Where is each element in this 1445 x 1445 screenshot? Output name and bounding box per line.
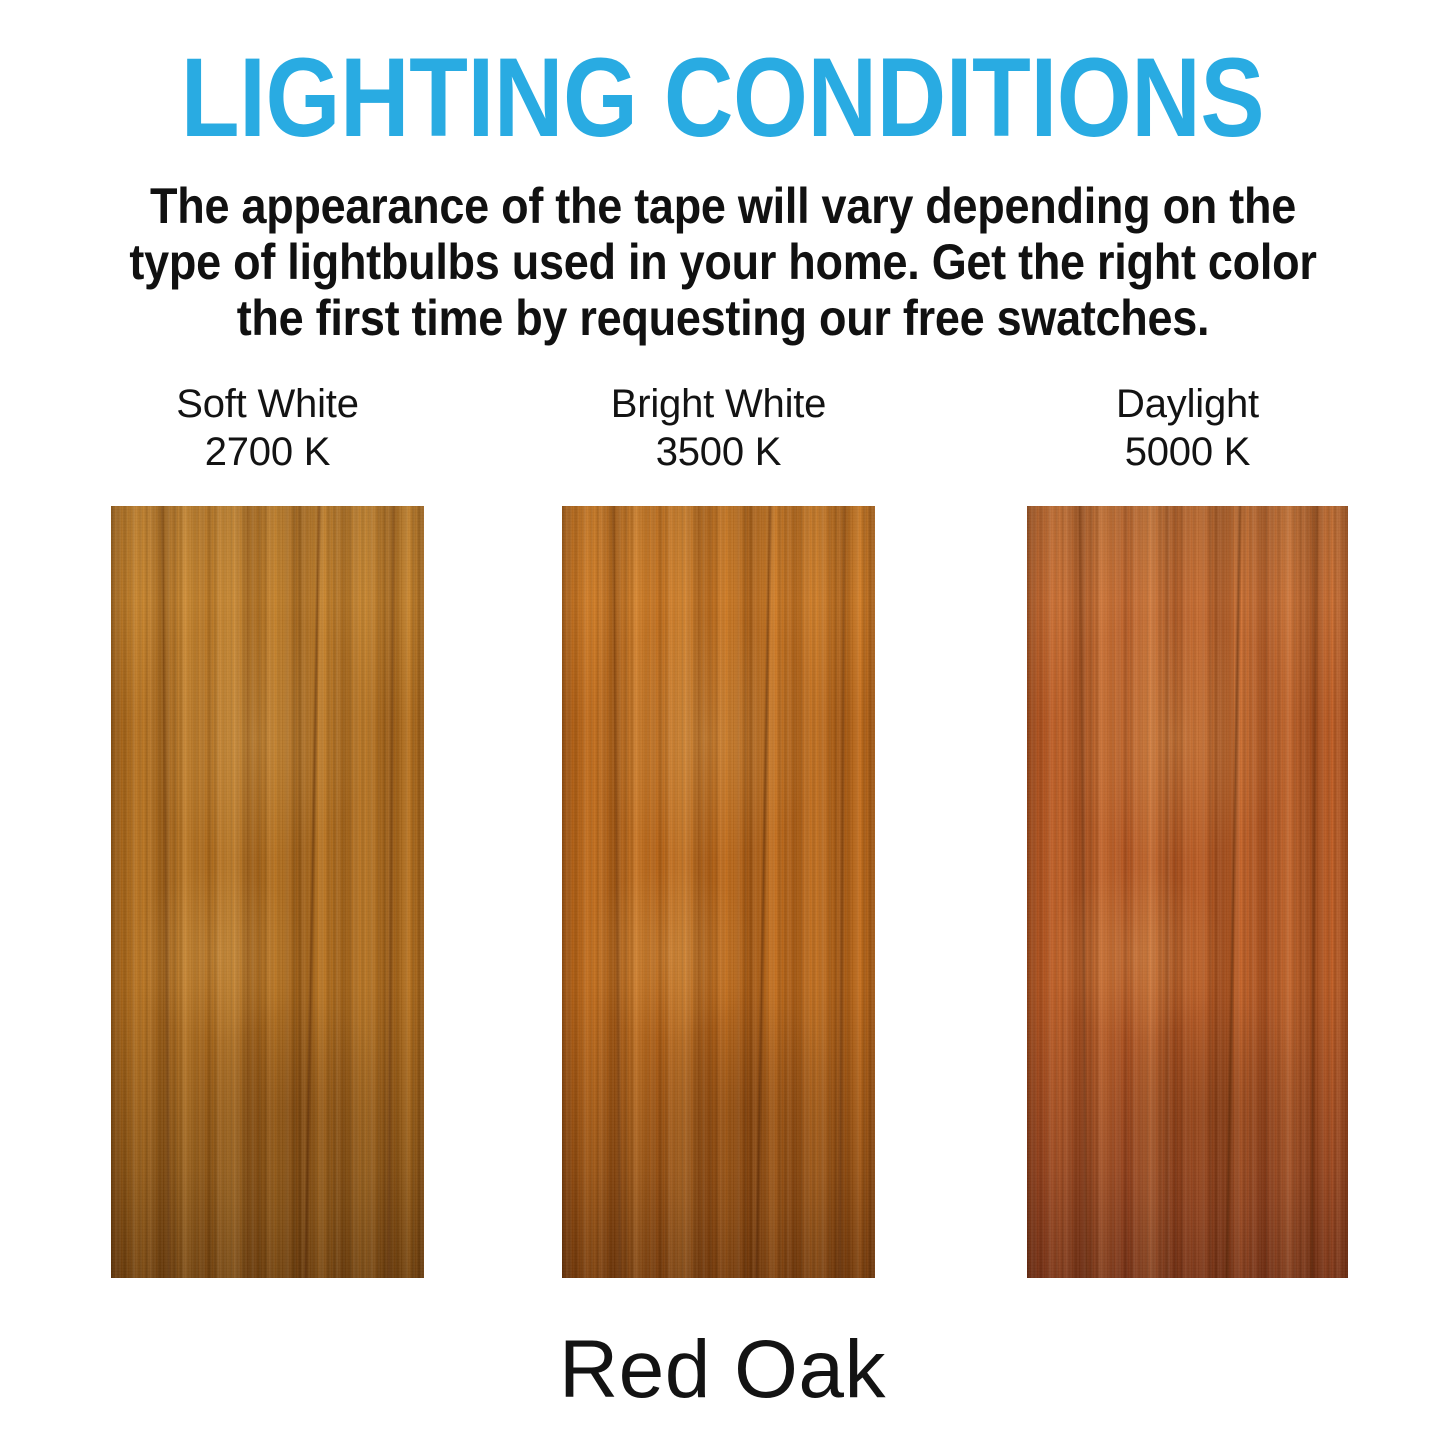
wood-swatch-daylight xyxy=(1027,506,1348,1278)
wood-species-label: Red Oak xyxy=(0,1322,1445,1418)
light-type-name: Daylight xyxy=(1027,380,1348,428)
column-label-bright-white: Bright White 3500 K xyxy=(562,380,875,476)
wood-swatch-bright-white xyxy=(562,506,875,1278)
light-type-name: Bright White xyxy=(562,380,875,428)
wood-grain-noise-layer xyxy=(562,506,875,1278)
subtitle-line-2: type of lightbulbs used in your home. Ge… xyxy=(84,234,1362,290)
color-temperature: 3500 K xyxy=(562,428,875,476)
column-labels: Soft White 2700 K Bright White 3500 K Da… xyxy=(0,380,1445,500)
wood-grain-noise-layer xyxy=(1027,506,1348,1278)
subtitle-block: The appearance of the tape will vary dep… xyxy=(84,178,1362,346)
column-label-soft-white: Soft White 2700 K xyxy=(111,380,424,476)
wood-grain-noise-layer xyxy=(111,506,424,1278)
color-temperature: 5000 K xyxy=(1027,428,1348,476)
subtitle-line-3: the first time by requesting our free sw… xyxy=(84,290,1362,346)
page-title: LIGHTING CONDITIONS xyxy=(101,42,1344,154)
column-label-daylight: Daylight 5000 K xyxy=(1027,380,1348,476)
wood-swatch-soft-white xyxy=(111,506,424,1278)
subtitle-line-1: The appearance of the tape will vary dep… xyxy=(84,178,1362,234)
color-temperature: 2700 K xyxy=(111,428,424,476)
light-type-name: Soft White xyxy=(111,380,424,428)
lighting-conditions-infographic: LIGHTING CONDITIONS The appearance of th… xyxy=(0,0,1445,1445)
